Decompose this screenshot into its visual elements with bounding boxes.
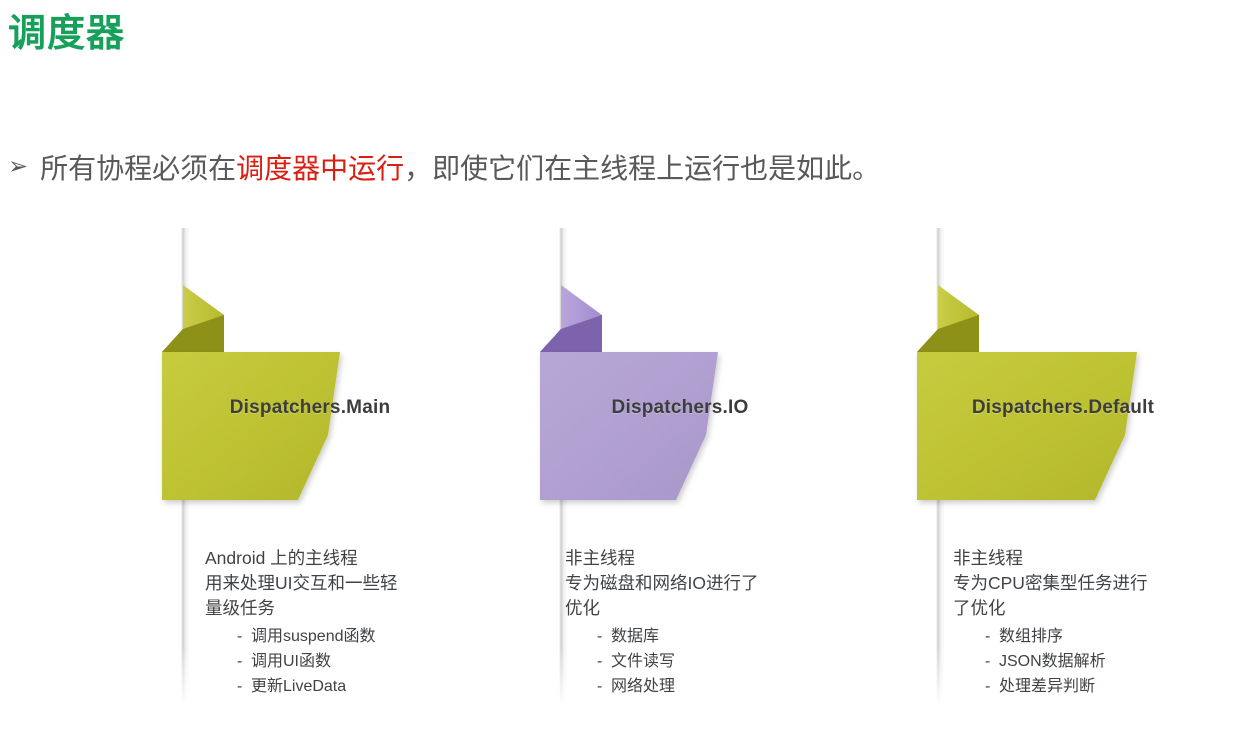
feature-list: -调用suspend函数 -调用UI函数 -更新LiveData bbox=[205, 624, 495, 699]
description-line: 了优化 bbox=[953, 596, 1253, 621]
dispatcher-column-default: Dispatchers.Default 非主线程 专为CPU密集型任务进行 了优… bbox=[905, 0, 1245, 732]
list-dash: - bbox=[237, 674, 242, 699]
description-line: 专为CPU密集型任务进行 bbox=[953, 571, 1253, 596]
list-dash: - bbox=[597, 649, 602, 674]
description-line: 非主线程 bbox=[953, 546, 1253, 571]
feature-list: -数组排序 -JSON数据解析 -处理差异判断 bbox=[953, 624, 1253, 699]
banner-shape-default[interactable]: Dispatchers.Default bbox=[905, 285, 1245, 510]
bullet-arrow-icon: ➢ bbox=[8, 150, 28, 185]
list-dash: - bbox=[985, 649, 990, 674]
dispatcher-column-io: Dispatchers.IO 非主线程 专为磁盘和网络IO进行了 优化 -数据库… bbox=[528, 0, 868, 732]
list-item: -调用UI函数 bbox=[237, 649, 495, 674]
feature-list: -数据库 -文件读写 -网络处理 bbox=[565, 624, 865, 699]
list-item: -文件读写 bbox=[597, 649, 865, 674]
description-line: Android 上的主线程 bbox=[205, 546, 495, 571]
list-item-label: 数组排序 bbox=[999, 628, 1063, 645]
description-line: 量级任务 bbox=[205, 596, 495, 621]
banner-shape-io[interactable]: Dispatchers.IO bbox=[528, 285, 868, 510]
list-item: -调用suspend函数 bbox=[237, 624, 495, 649]
list-item: -数据库 bbox=[597, 624, 865, 649]
list-item-label: JSON数据解析 bbox=[999, 653, 1106, 670]
dispatcher-description-io: 非主线程 专为磁盘和网络IO进行了 优化 -数据库 -文件读写 -网络处理 bbox=[565, 546, 865, 699]
list-item-label: 网络处理 bbox=[611, 678, 675, 695]
banner-body bbox=[540, 352, 718, 500]
list-item: -处理差异判断 bbox=[985, 674, 1253, 699]
list-item-label: 处理差异判断 bbox=[999, 678, 1095, 695]
list-item-label: 数据库 bbox=[611, 628, 659, 645]
description-line: 非主线程 bbox=[565, 546, 865, 571]
list-item-label: 调用suspend函数 bbox=[251, 628, 376, 645]
list-item: -数组排序 bbox=[985, 624, 1253, 649]
dispatcher-description-default: 非主线程 专为CPU密集型任务进行 了优化 -数组排序 -JSON数据解析 -处… bbox=[953, 546, 1253, 699]
list-item: -更新LiveData bbox=[237, 674, 495, 699]
description-lead: 非主线程 专为CPU密集型任务进行 了优化 bbox=[953, 546, 1253, 621]
list-dash: - bbox=[597, 624, 602, 649]
list-dash: - bbox=[237, 649, 242, 674]
list-item-label: 更新LiveData bbox=[251, 678, 346, 695]
description-line: 专为磁盘和网络IO进行了 bbox=[565, 571, 865, 596]
list-dash: - bbox=[237, 624, 242, 649]
page-title: 调度器 bbox=[8, 12, 125, 58]
list-dash: - bbox=[985, 624, 990, 649]
banner-body bbox=[917, 352, 1137, 500]
banner-shape-main[interactable]: Dispatchers.Main bbox=[150, 285, 490, 510]
description-lead: Android 上的主线程 用来处理UI交互和一些轻 量级任务 bbox=[205, 546, 495, 621]
list-item: -JSON数据解析 bbox=[985, 649, 1253, 674]
list-item-label: 文件读写 bbox=[611, 653, 675, 670]
list-item: -网络处理 bbox=[597, 674, 865, 699]
description-line: 优化 bbox=[565, 596, 865, 621]
dispatcher-column-main: Dispatchers.Main Android 上的主线程 用来处理UI交互和… bbox=[150, 0, 490, 732]
list-dash: - bbox=[985, 674, 990, 699]
list-dash: - bbox=[597, 674, 602, 699]
list-item-label: 调用UI函数 bbox=[251, 653, 331, 670]
banner-body bbox=[162, 352, 340, 500]
description-line: 用来处理UI交互和一些轻 bbox=[205, 571, 495, 596]
description-lead: 非主线程 专为磁盘和网络IO进行了 优化 bbox=[565, 546, 865, 621]
dispatcher-description-main: Android 上的主线程 用来处理UI交互和一些轻 量级任务 -调用suspe… bbox=[205, 546, 495, 699]
